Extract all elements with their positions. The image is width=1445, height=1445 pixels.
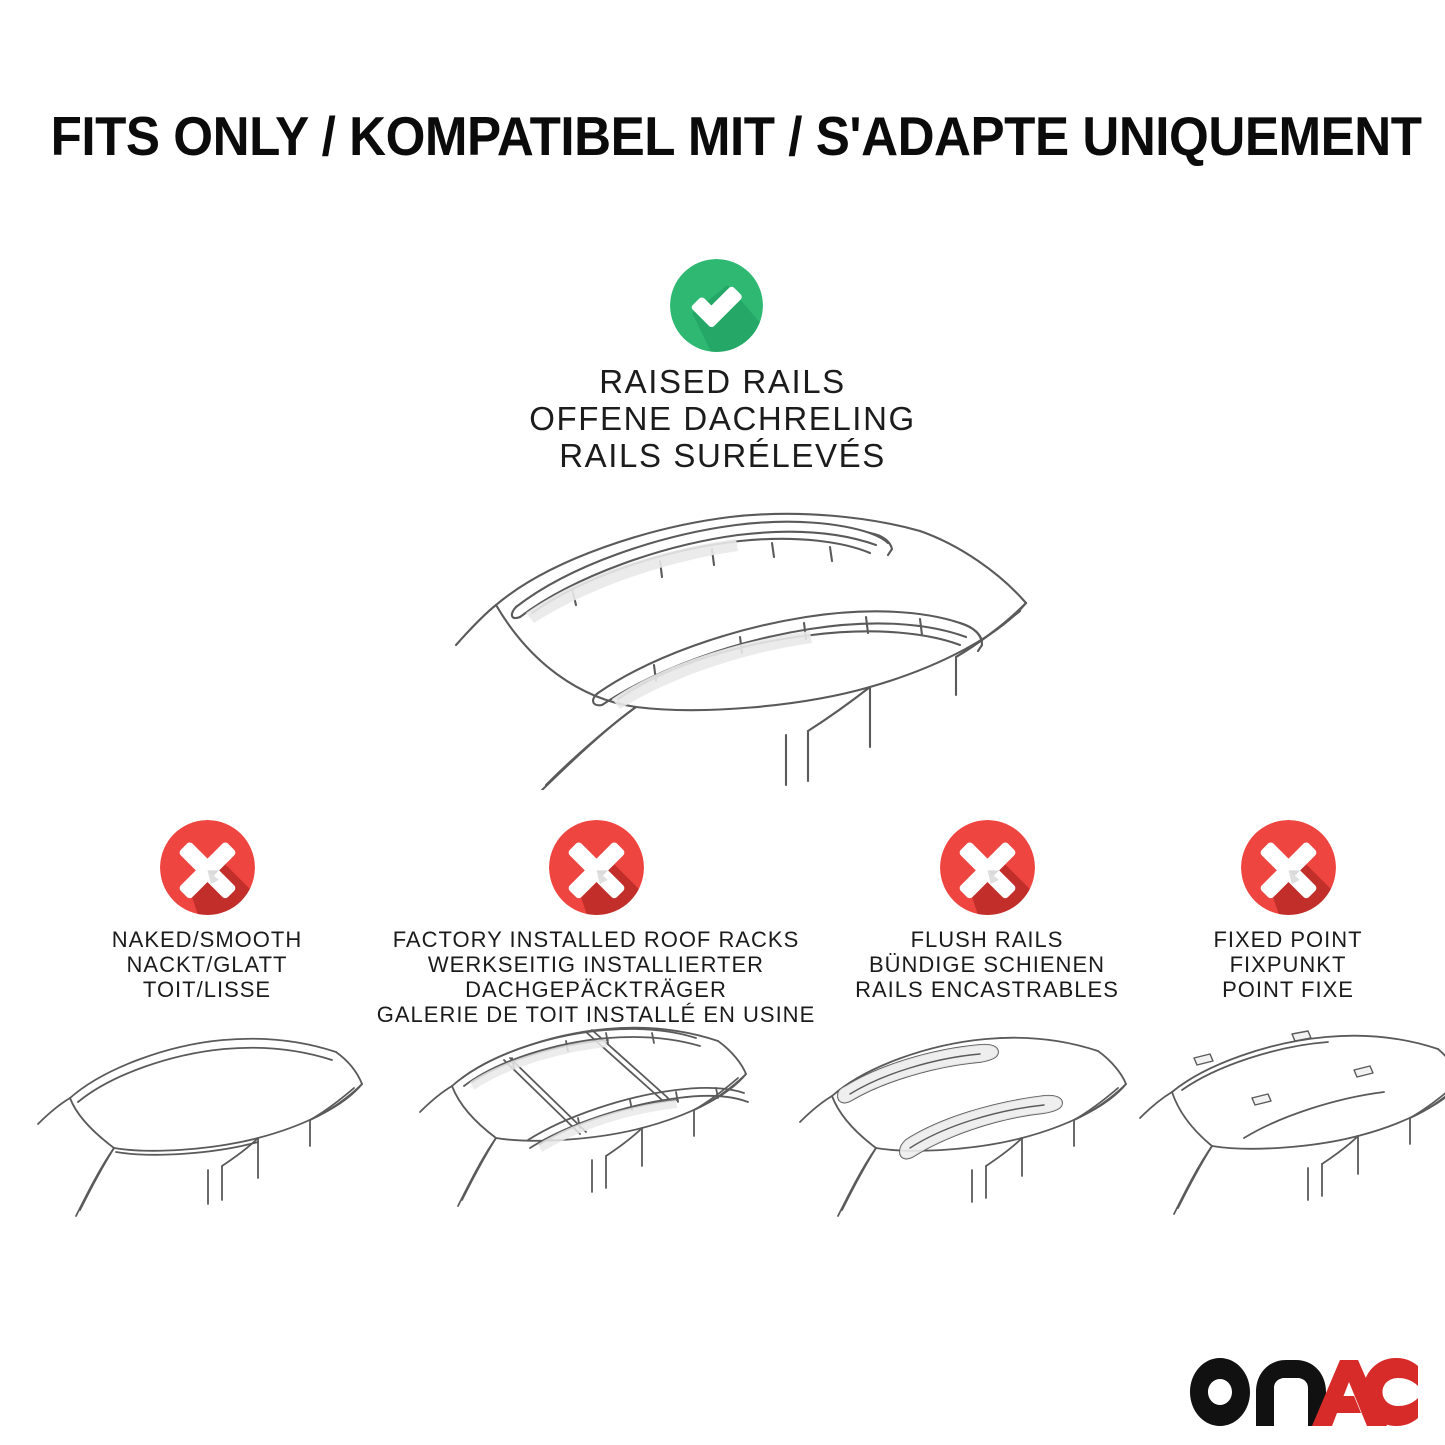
car-roof-naked-smooth-sketch	[18, 1018, 373, 1268]
omac-logo	[1190, 1358, 1418, 1426]
x-circle-icon	[549, 820, 644, 915]
label-line-en: FLUSH RAILS	[822, 927, 1152, 952]
incompatible-label-flush-rails: FLUSH RAILS BÜNDIGE SCHIENEN RAILS ENCAS…	[822, 927, 1152, 1002]
compatible-label-line-de: OFFENE DACHRELING	[0, 400, 1445, 437]
label-line-fr: POINT FIXE	[1152, 977, 1424, 1002]
car-roof-flush-rails-sketch	[780, 1018, 1138, 1268]
incompatible-item-factory-rack: FACTORY INSTALLED ROOF RACKS WERKSEITIG …	[366, 820, 826, 1027]
label-line-de-2: DACHGEPÄCKTRÄGER	[366, 977, 826, 1002]
car-roof-fixed-point-sketch	[1132, 1018, 1445, 1268]
compatible-label-line-en: RAISED RAILS	[0, 363, 1445, 400]
car-roof-raised-rails-sketch	[400, 495, 1040, 790]
compatible-label: RAISED RAILS OFFENE DACHRELING RAILS SUR…	[0, 363, 1445, 474]
label-line-de: BÜNDIGE SCHIENEN	[822, 952, 1152, 977]
x-circle-icon	[1241, 820, 1336, 915]
label-line-en: FACTORY INSTALLED ROOF RACKS	[366, 927, 826, 952]
check-circle-icon	[670, 259, 763, 352]
incompatible-label-naked-smooth: NAKED/SMOOTH NACKT/GLATT TOIT/LISSE	[42, 927, 372, 1002]
incompatible-item-naked-smooth: NAKED/SMOOTH NACKT/GLATT TOIT/LISSE	[42, 820, 372, 1002]
incompatible-item-flush-rails: FLUSH RAILS BÜNDIGE SCHIENEN RAILS ENCAS…	[822, 820, 1152, 1002]
incompatible-item-fixed-point: FIXED POINT FIXPUNKT POINT FIXE	[1152, 820, 1424, 1002]
incompatible-label-fixed-point: FIXED POINT FIXPUNKT POINT FIXE	[1152, 927, 1424, 1002]
infographic-canvas: FITS ONLY / KOMPATIBEL MIT / S'ADAPTE UN…	[0, 0, 1445, 1445]
compatible-label-line-fr: RAILS SURÉLEVÉS	[0, 437, 1445, 474]
page-title: FITS ONLY / KOMPATIBEL MIT / S'ADAPTE UN…	[51, 104, 1395, 168]
label-line-fr: RAILS ENCASTRABLES	[822, 977, 1152, 1002]
label-line-de-1: WERKSEITIG INSTALLIERTER	[366, 952, 826, 977]
x-circle-icon	[160, 820, 255, 915]
label-line-fr: TOIT/LISSE	[42, 977, 372, 1002]
label-line-en: FIXED POINT	[1152, 927, 1424, 952]
x-circle-icon	[940, 820, 1035, 915]
label-line-de: FIXPUNKT	[1152, 952, 1424, 977]
label-line-en: NAKED/SMOOTH	[42, 927, 372, 952]
label-line-de: NACKT/GLATT	[42, 952, 372, 977]
car-roof-factory-rack-sketch	[400, 1008, 760, 1263]
